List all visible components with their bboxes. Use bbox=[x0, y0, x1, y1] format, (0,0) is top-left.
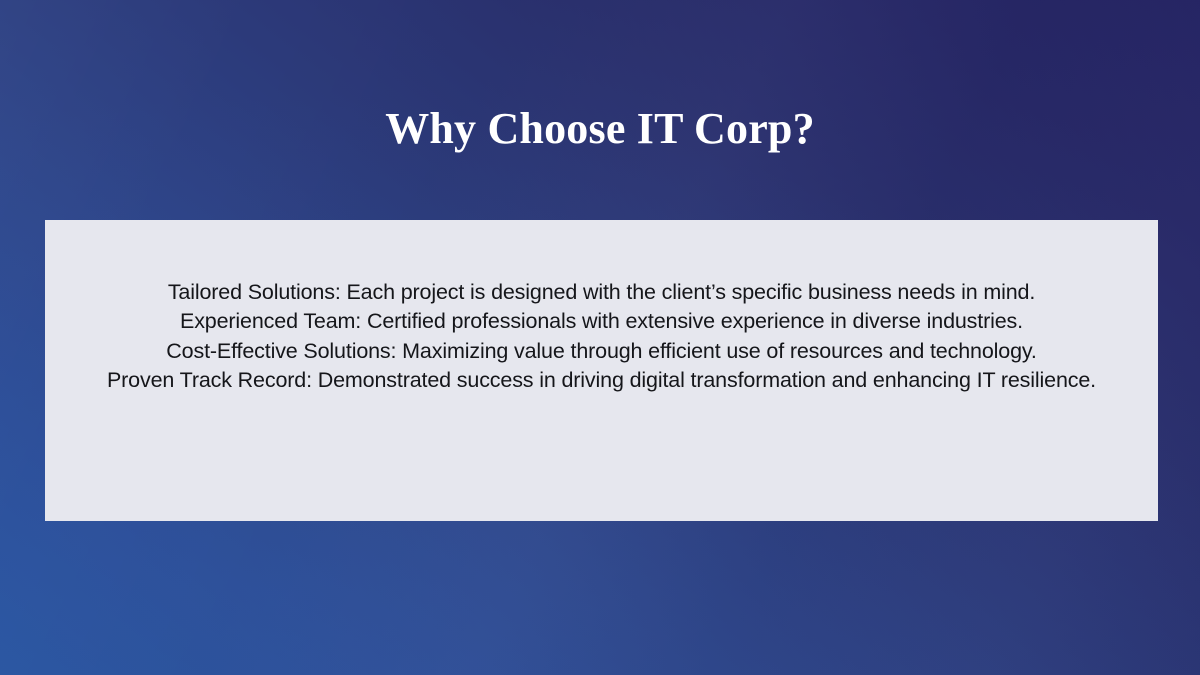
bullet-line-cost-effective-solutions: Cost-Effective Solutions: Maximizing val… bbox=[67, 337, 1136, 366]
bullet-line-experienced-team: Experienced Team: Certified professional… bbox=[67, 307, 1136, 336]
content-card: Tailored Solutions: Each project is desi… bbox=[45, 220, 1158, 521]
page-title: Why Choose IT Corp? bbox=[0, 98, 1200, 160]
bullet-text-block: Tailored Solutions: Each project is desi… bbox=[45, 278, 1158, 396]
presentation-slide: Why Choose IT Corp? Tailored Solutions: … bbox=[0, 0, 1200, 675]
bullet-line-tailored-solutions: Tailored Solutions: Each project is desi… bbox=[67, 278, 1136, 307]
bullet-line-proven-track-record: Proven Track Record: Demonstrated succes… bbox=[67, 366, 1136, 395]
